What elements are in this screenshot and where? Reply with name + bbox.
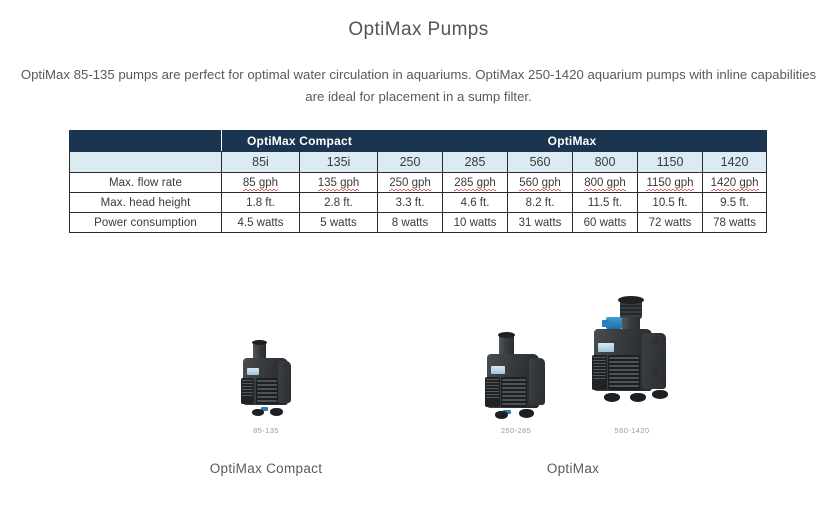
cell-text: 285 gph [454, 177, 496, 189]
row-label-power-consumption: Power consumption [70, 213, 222, 233]
table-corner-cell [70, 131, 222, 152]
cell-text: 1420 gph [711, 177, 759, 189]
pump-image-row: 250-285 [455, 290, 691, 435]
figure-group-optimax-compact: 85-135 OptiMax Compact [148, 290, 384, 476]
cell-head-0: 1.8 ft. [222, 193, 300, 213]
model-header-2: 250 [378, 152, 443, 173]
group-header-optimax-compact: OptiMax Compact [222, 131, 378, 152]
cell-power-1: 5 watts [300, 213, 378, 233]
product-figures: 85-135 OptiMax Compact [0, 290, 837, 500]
pump-caption-holder: 250-285 [463, 426, 569, 435]
cell-power-2: 8 watts [378, 213, 443, 233]
figure-group-label-optimax-compact: OptiMax Compact [148, 461, 384, 476]
pump-illustration-250-285 [473, 313, 559, 423]
model-header-0: 85i [222, 152, 300, 173]
cell-flow-3: 285 gph [443, 173, 508, 193]
model-header-5: 800 [573, 152, 638, 173]
cell-flow-2: 250 gph [378, 173, 443, 193]
cell-head-5: 11.5 ft. [573, 193, 638, 213]
model-header-4: 560 [508, 152, 573, 173]
cell-power-3: 10 watts [443, 213, 508, 233]
pump-caption-holder: 85-135 [216, 426, 316, 435]
cell-flow-1: 135 gph [300, 173, 378, 193]
cell-text: 560 gph [519, 177, 561, 189]
model-header-1: 135i [300, 152, 378, 173]
cell-head-7: 9.5 ft. [703, 193, 767, 213]
table-group-header-row: OptiMax Compact OptiMax [70, 131, 767, 152]
cell-head-6: 10.5 ft. [638, 193, 703, 213]
cell-text: 250 gph [389, 177, 431, 189]
model-header-3: 285 [443, 152, 508, 173]
cell-head-3: 4.6 ft. [443, 193, 508, 213]
pump-caption-85-135: 85-135 [216, 426, 316, 435]
group-header-optimax: OptiMax [378, 131, 767, 152]
table-row: Power consumption 4.5 watts 5 watts 8 wa… [70, 213, 767, 233]
model-row-corner-cell [70, 152, 222, 173]
cell-head-4: 8.2 ft. [508, 193, 573, 213]
cell-text: 85 gph [243, 177, 278, 189]
figure-group-optimax: 250-285 [455, 290, 691, 476]
cell-head-2: 3.3 ft. [378, 193, 443, 213]
page-title: OptiMax Pumps [0, 0, 837, 42]
spec-table-container: OptiMax Compact OptiMax 85i 135i 250 285… [69, 130, 766, 233]
model-header-7: 1420 [703, 152, 767, 173]
pump-caption-560-1420: 560-1420 [573, 426, 691, 435]
cell-flow-5: 800 gph [573, 173, 638, 193]
cell-power-7: 78 watts [703, 213, 767, 233]
pump-figure-560-1420: 560-1420 [573, 293, 691, 435]
pump-specifications-table: OptiMax Compact OptiMax 85i 135i 250 285… [69, 130, 767, 233]
cell-flow-4: 560 gph [508, 173, 573, 193]
cell-text: 1150 gph [646, 177, 693, 189]
pump-image-row: 85-135 [148, 290, 384, 435]
figure-group-label-optimax: OptiMax [455, 461, 691, 476]
pump-caption-holder: 560-1420 [573, 426, 691, 435]
pump-caption-250-285: 250-285 [463, 426, 569, 435]
pump-illustration-85-135 [230, 328, 302, 423]
cell-text: 135 gph [318, 177, 360, 189]
row-label-head-height: Max. head height [70, 193, 222, 213]
table-model-header-row: 85i 135i 250 285 560 800 1150 1420 [70, 152, 767, 173]
cell-head-1: 2.8 ft. [300, 193, 378, 213]
cell-power-4: 31 watts [508, 213, 573, 233]
cell-text: 800 gph [584, 177, 626, 189]
pump-figure-250-285: 250-285 [463, 313, 569, 435]
cell-flow-6: 1150 gph [638, 173, 703, 193]
cell-power-6: 72 watts [638, 213, 703, 233]
table-row: Max. head height 1.8 ft. 2.8 ft. 3.3 ft.… [70, 193, 767, 213]
page-subtitle: OptiMax 85-135 pumps are perfect for opt… [11, 42, 826, 108]
pump-illustration-560-1420 [582, 293, 682, 423]
row-label-flow-rate: Max. flow rate [70, 173, 222, 193]
cell-power-5: 60 watts [573, 213, 638, 233]
cell-power-0: 4.5 watts [222, 213, 300, 233]
pump-figure-85-135: 85-135 [216, 328, 316, 435]
cell-flow-7: 1420 gph [703, 173, 767, 193]
model-header-6: 1150 [638, 152, 703, 173]
cell-flow-0: 85 gph [222, 173, 300, 193]
table-row: Max. flow rate 85 gph 135 gph 250 gph 28… [70, 173, 767, 193]
